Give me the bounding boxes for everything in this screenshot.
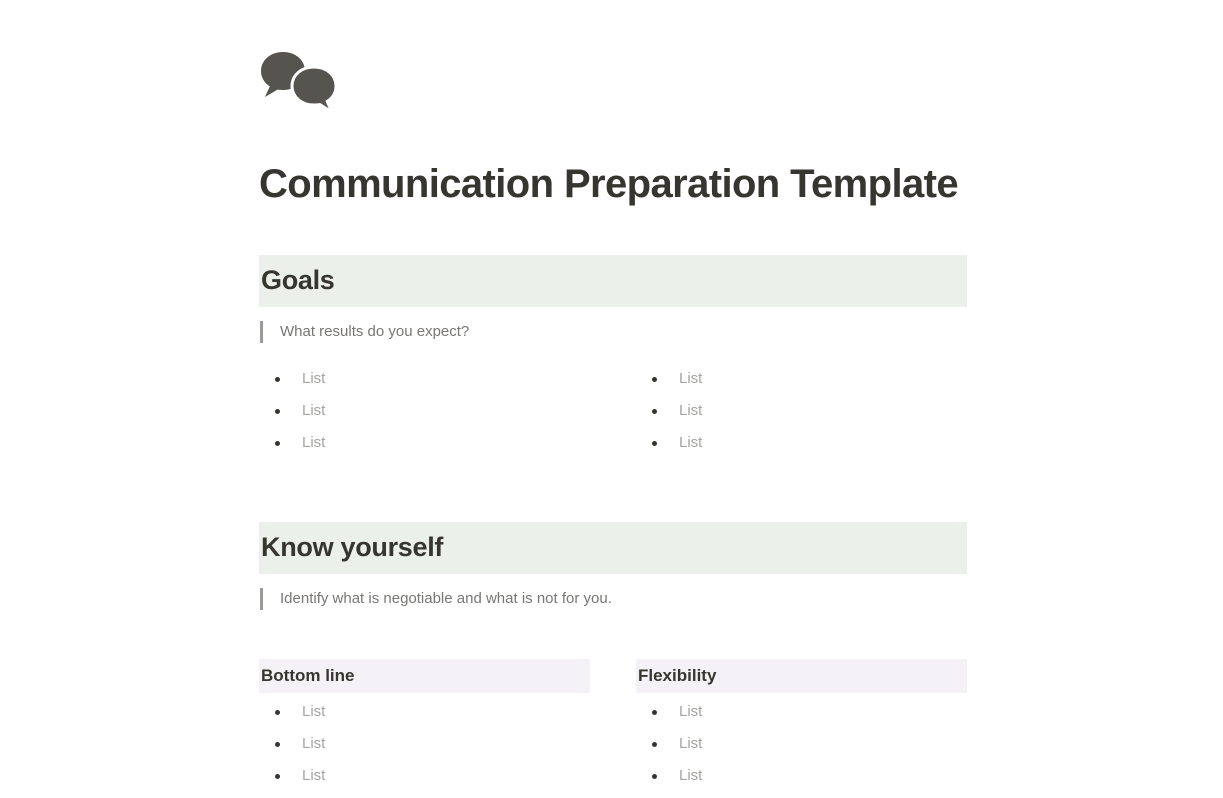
list-item[interactable]: List [259, 401, 636, 421]
list-item[interactable]: List [259, 369, 636, 389]
goals-column-right: List List List [636, 369, 967, 465]
list-item[interactable]: List [259, 702, 636, 722]
page-title: Communication Preparation Template [259, 160, 967, 208]
quote-text: Identify what is negotiable and what is … [280, 588, 612, 610]
quote-bar-icon [260, 588, 263, 610]
list-item[interactable]: List [259, 766, 636, 786]
subsection-bottom-line: Bottom line List List List [259, 659, 636, 798]
quote-text: What results do you expect? [280, 321, 469, 343]
list-item[interactable]: List [636, 702, 967, 722]
flexibility-list: List List List [636, 702, 967, 786]
know-yourself-columns: Bottom line List List List Flexibility L… [259, 659, 967, 798]
list-item[interactable]: List [259, 433, 636, 453]
section-heading-goals: Goals [259, 255, 967, 307]
goals-column-left: List List List [259, 369, 636, 465]
list-item[interactable]: List [636, 401, 967, 421]
subsection-flexibility: Flexibility List List List [636, 659, 967, 798]
section-quote-know-yourself: Identify what is negotiable and what is … [259, 588, 967, 610]
list-item[interactable]: List [636, 734, 967, 754]
document-content: Communication Preparation Template Goals… [259, 0, 967, 798]
list-item[interactable]: List [636, 433, 967, 453]
document-page: Communication Preparation Template Goals… [0, 0, 1223, 798]
subsection-heading-bottom-line: Bottom line [259, 659, 590, 693]
list-item[interactable]: List [259, 734, 636, 754]
subsection-heading-flexibility: Flexibility [636, 659, 967, 693]
goals-columns: List List List List List List [259, 369, 967, 465]
goals-list-right: List List List [636, 369, 967, 453]
quote-bar-icon [260, 321, 263, 343]
section-heading-know-yourself: Know yourself [259, 522, 967, 574]
bottom-line-list: List List List [259, 702, 636, 786]
speech-bubbles-icon[interactable] [259, 48, 343, 118]
list-item[interactable]: List [636, 369, 967, 389]
list-item[interactable]: List [636, 766, 967, 786]
goals-list-left: List List List [259, 369, 636, 453]
section-quote-goals: What results do you expect? [259, 321, 967, 343]
